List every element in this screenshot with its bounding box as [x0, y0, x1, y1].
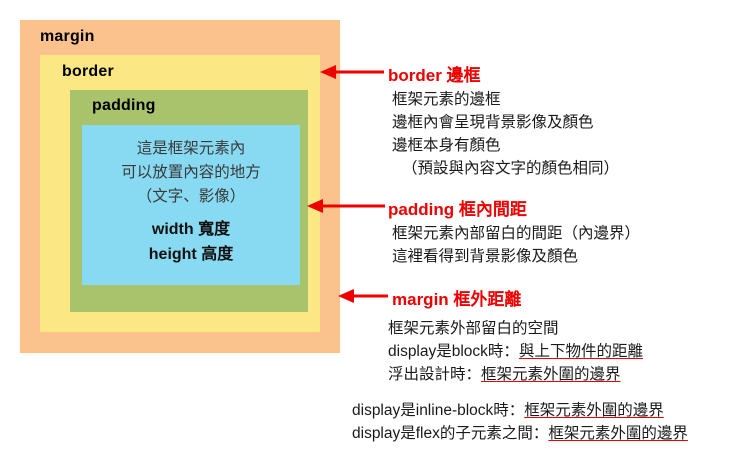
margin-note-block: display是block時：與上下物件的距離	[388, 340, 643, 363]
annotation-heading-padding: padding 框內間距	[388, 195, 527, 220]
margin-note-flex-prefix: display是flex的子元素之間：	[352, 425, 548, 442]
content-description: 這是框架元素內 可以放置內容的地方 （文字、影像）	[82, 137, 300, 209]
content-line-3: （文字、影像）	[82, 185, 300, 209]
margin-note-flex: display是flex的子元素之間：框架元素外圍的邊界	[352, 422, 688, 445]
annotation-heading-margin: margin 框外距離	[392, 285, 521, 310]
border-note-2: 邊框內會呈現背景影像及顏色	[392, 111, 619, 134]
margin-note-float: 浮出設計時：框架元素外圍的邊界	[388, 363, 643, 386]
border-note-4: （預設與內容文字的顏色相同）	[392, 157, 619, 180]
border-pointer-arrow-icon	[318, 64, 384, 80]
annotation-body-border: 框架元素的邊框 邊框內會呈現背景影像及顏色 邊框本身有顏色 （預設與內容文字的顏…	[392, 88, 619, 180]
margin-note-inline-block-underlined: 框架元素外圍的邊界	[524, 402, 664, 419]
margin-note-inline-block-prefix: display是inline-block時：	[352, 402, 524, 419]
annotation-body-margin: 框架元素外部留白的空間 display是block時：與上下物件的距離 浮出設計…	[388, 317, 643, 386]
margin-note-float-underlined: 框架元素外圍的邊界	[481, 366, 621, 383]
border-box-label: border	[62, 63, 114, 81]
annotation-body-padding: 框架元素內部留白的間距（內邊界） 這裡看得到背景影像及顏色	[392, 222, 640, 268]
padding-note-2: 這裡看得到背景影像及顏色	[392, 245, 640, 268]
content-width-label: width 寬度	[82, 217, 300, 242]
content-box: 這是框架元素內 可以放置內容的地方 （文字、影像） width 寬度 heigh…	[82, 125, 300, 285]
margin-note-float-prefix: 浮出設計時：	[388, 366, 481, 383]
annotation-heading-border: border 邊框	[388, 61, 481, 86]
margin-note-inline-block: display是inline-block時：框架元素外圍的邊界	[352, 399, 688, 422]
margin-box-label: margin	[40, 28, 95, 46]
margin-note-block-prefix: display是block時：	[388, 343, 519, 360]
margin-pointer-arrow-icon	[336, 288, 388, 304]
content-line-2: 可以放置內容的地方	[82, 161, 300, 185]
border-note-1: 框架元素的邊框	[392, 88, 619, 111]
content-dimensions: width 寬度 height 高度	[82, 217, 300, 267]
padding-pointer-arrow-icon	[305, 198, 385, 214]
padding-box-label: padding	[92, 97, 156, 115]
border-note-3: 邊框本身有顏色	[392, 134, 619, 157]
margin-note-flex-underlined: 框架元素外圍的邊界	[548, 425, 688, 442]
margin-note-1: 框架元素外部留白的空間	[388, 317, 643, 340]
content-line-1: 這是框架元素內	[82, 137, 300, 161]
box-model-diagram: margin border padding 這是框架元素內 可以放置內容的地方 …	[20, 20, 340, 353]
margin-extra-notes: display是inline-block時：框架元素外圍的邊界 display是…	[352, 399, 688, 445]
content-height-label: height 高度	[82, 242, 300, 267]
margin-note-block-underlined: 與上下物件的距離	[519, 343, 643, 360]
padding-note-1: 框架元素內部留白的間距（內邊界）	[392, 222, 640, 245]
